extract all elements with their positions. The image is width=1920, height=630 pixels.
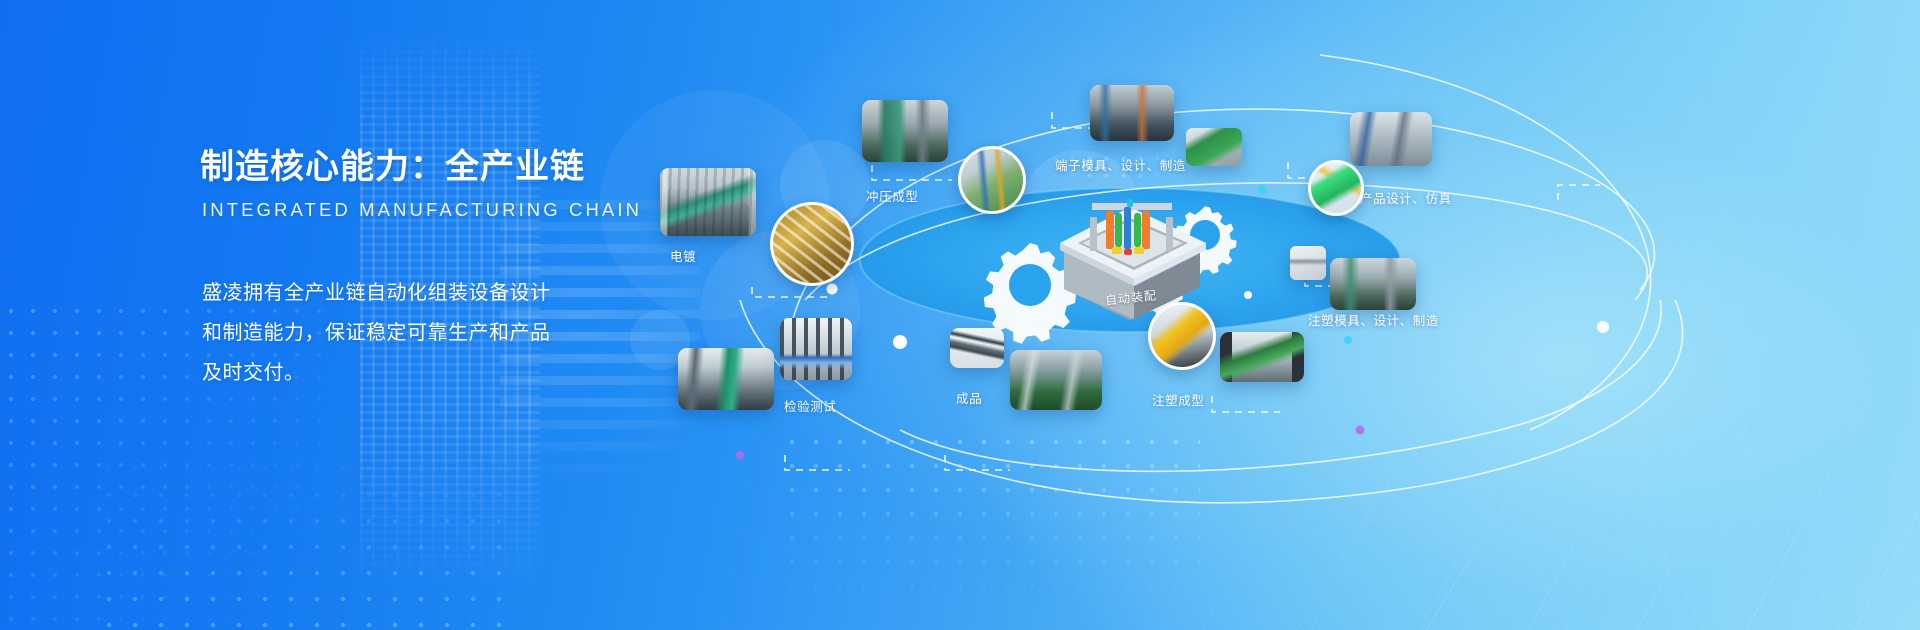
- node-thumb-terminal-mold[interactable]: [1090, 85, 1174, 141]
- body-paragraph: 盛凌拥有全产业链自动化组装设备设计和制造能力，保证稳定可靠生产和产品及时交付。: [202, 273, 562, 393]
- manufacturing-banner: 制造核心能力：全产业链 INTEGRATED MANUFACTURING CHA…: [0, 0, 1920, 630]
- node-thumb-injection-forming-icon[interactable]: [1148, 302, 1216, 370]
- node-label-terminal-mold: 端子模具、设计、制造: [1055, 155, 1186, 174]
- node-label-electroplating: 电镀: [670, 246, 696, 265]
- node-thumb-plating-detail[interactable]: [770, 202, 854, 286]
- node-thumb-injection-mold[interactable]: [1330, 258, 1416, 310]
- orbit-lines: [600, 0, 1920, 630]
- node-label-injection-forming: 注塑成型: [1152, 390, 1204, 409]
- node-label-finished-product: 成品: [956, 388, 982, 407]
- node-thumb-injection-forming[interactable]: [1220, 332, 1304, 382]
- node-label-stamping: 冲压成型: [866, 186, 918, 205]
- node-label-product-design: 产品设计、仿真: [1360, 188, 1452, 207]
- page-title: 制造核心能力：全产业链: [200, 146, 620, 189]
- node-thumb-electroplating[interactable]: [660, 168, 756, 236]
- node-label-inspection: 检验测试: [784, 396, 836, 415]
- node-thumb-injection-mold-icon[interactable]: [1290, 246, 1326, 280]
- process-diagram: 自动装配 电镀 冲压成型 端子模具、设计: [600, 0, 1920, 630]
- dot-grid-mid: [96, 430, 516, 630]
- central-mold: 自动装配: [1030, 185, 1230, 320]
- node-label-injection-mold: 注塑模具、设计、制造: [1308, 310, 1439, 329]
- node-thumb-finished-line[interactable]: [1010, 350, 1102, 410]
- node-thumb-inspection-detail[interactable]: [780, 318, 852, 380]
- node-thumb-terminal-mold-detail[interactable]: [1186, 128, 1242, 166]
- node-thumb-product-design[interactable]: [1350, 112, 1432, 166]
- node-thumb-stamping[interactable]: [862, 100, 948, 162]
- page-subtitle: INTEGRATED MANUFACTURING CHAIN: [202, 199, 620, 221]
- node-thumb-inspection[interactable]: [678, 348, 774, 410]
- node-thumb-stamping-machine[interactable]: [958, 146, 1026, 214]
- copy-block: 制造核心能力：全产业链 INTEGRATED MANUFACTURING CHA…: [200, 146, 620, 393]
- node-thumb-finished-product[interactable]: [950, 328, 1004, 368]
- node-thumb-product-design-icon[interactable]: [1308, 160, 1364, 216]
